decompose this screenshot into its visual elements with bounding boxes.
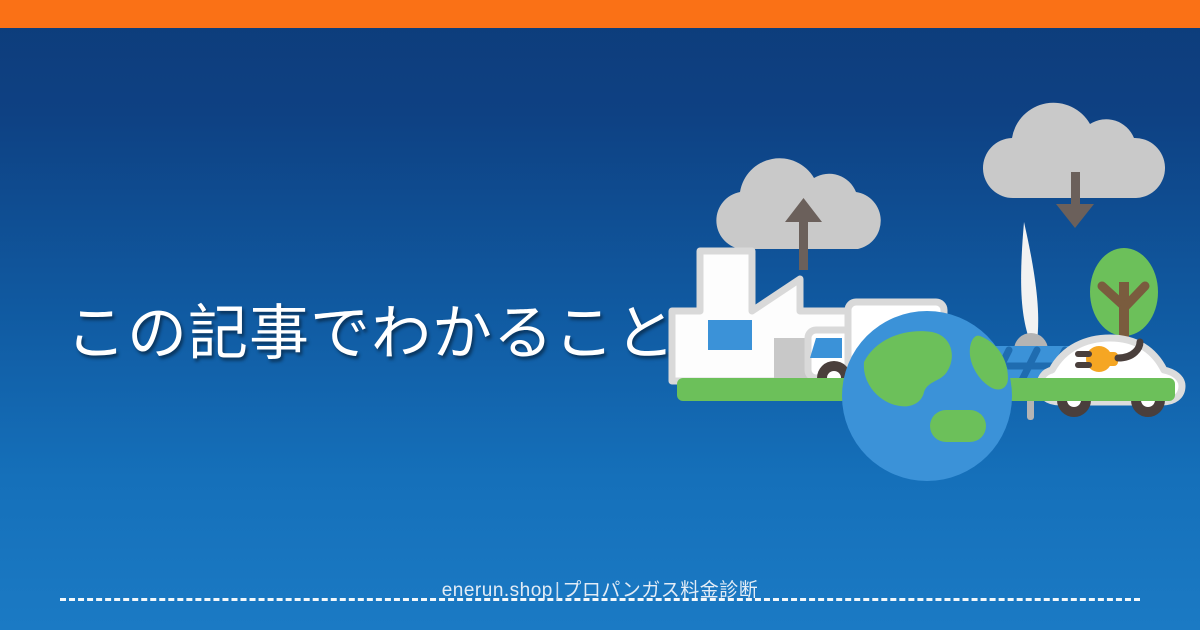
footer-separator: | (553, 580, 562, 601)
footer: enerun.shop|プロパンガス料金診断 (0, 570, 1200, 610)
footer-credit: enerun.shop|プロパンガス料金診断 (0, 575, 1200, 602)
earth-globe-icon (842, 311, 1012, 481)
page-title: この記事でわかること (66, 298, 626, 370)
factory-window (708, 320, 752, 350)
top-accent-bar (0, 0, 1200, 28)
slide-canvas: この記事でわかること (0, 0, 1200, 630)
energy-eco-illustration (640, 70, 1200, 550)
footer-site-name: enerun.shop (442, 580, 553, 601)
footer-tagline: プロパンガス料金診断 (562, 580, 758, 601)
cloud-absorption-down-icon (983, 103, 1165, 228)
